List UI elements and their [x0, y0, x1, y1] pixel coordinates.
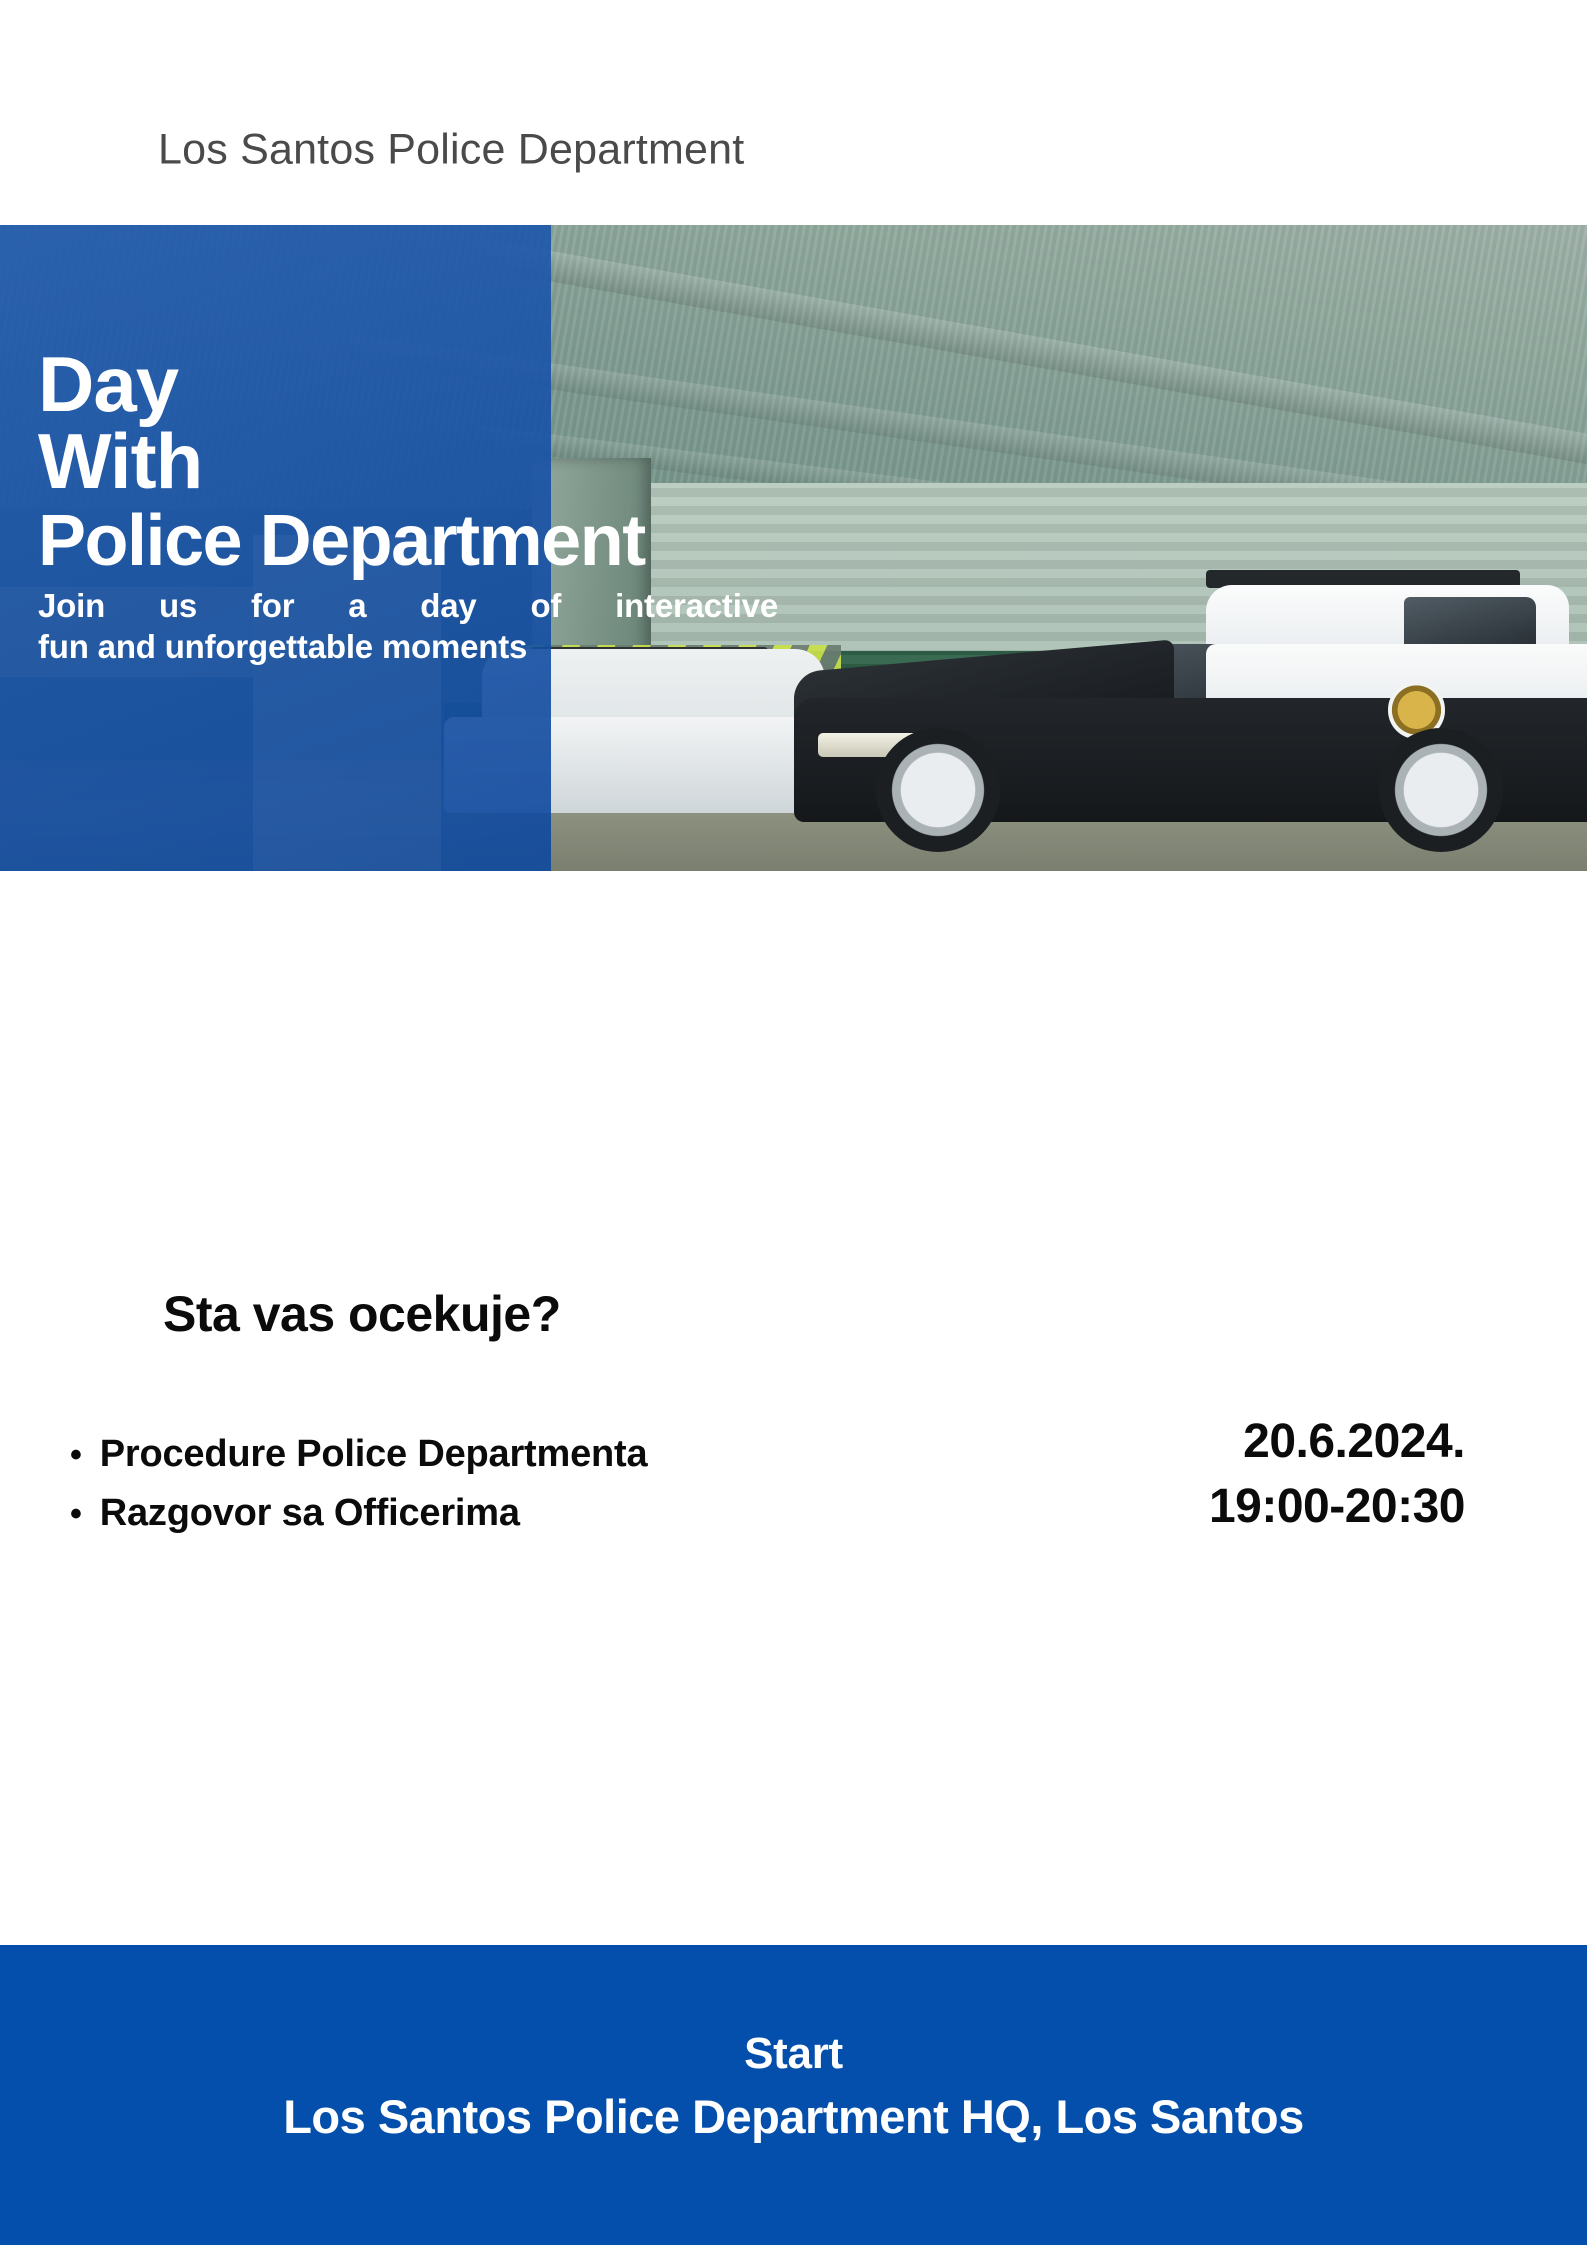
event-time: 19:00-20:30 [1209, 1475, 1465, 1540]
bullet-icon: • [70, 1438, 82, 1472]
agenda-list: • Procedure Police Departmenta • Razgovo… [70, 1425, 647, 1543]
hero-title-line-2: With [38, 422, 202, 500]
footer-location: Los Santos Police Department HQ, Los San… [0, 2089, 1587, 2144]
hero-banner: Day With Police Department Join us for a… [0, 225, 1587, 871]
hero-subtitle-line-2: fun and unforgettable moments [38, 626, 808, 667]
hero-title-line-1: Day [38, 345, 178, 423]
hero-subtitle-line-1: Join us for a day of interactive [38, 585, 778, 626]
hero-title-line-3: Police Department [38, 505, 645, 577]
event-date: 20.6.2024. [1209, 1410, 1465, 1475]
page-header: Los Santos Police Department [0, 0, 1587, 225]
organization-title: Los Santos Police Department [158, 126, 744, 175]
hero-text-block: Day With Police Department Join us for a… [0, 225, 1587, 871]
list-item: • Procedure Police Departmenta [70, 1425, 647, 1484]
page-footer: Start Los Santos Police Department HQ, L… [0, 1945, 1587, 2245]
section-title: Sta vas ocekuje? [163, 1285, 561, 1343]
footer-start-label: Start [0, 2029, 1587, 2079]
list-item: • Razgovor sa Officerima [70, 1484, 647, 1543]
main-content [0, 871, 1587, 1945]
list-item-label: Procedure Police Departmenta [100, 1425, 648, 1484]
hero-subtitle: Join us for a day of interactive fun and… [38, 585, 808, 668]
event-datetime: 20.6.2024. 19:00-20:30 [1209, 1410, 1465, 1540]
list-item-label: Razgovor sa Officerima [100, 1484, 520, 1543]
bullet-icon: • [70, 1497, 82, 1531]
